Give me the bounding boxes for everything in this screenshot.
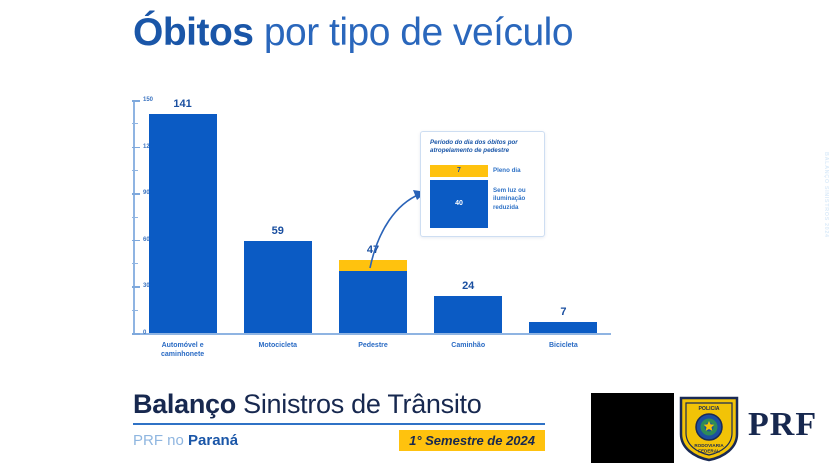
- black-placeholder-box: [591, 393, 674, 463]
- footer-subrow: PRF no Paraná 1° Semestre de 2024: [133, 430, 545, 456]
- page-title: Óbitos por tipo de veículo: [133, 10, 573, 56]
- callout-row-night: 40 Sem luz ou iluminação reduzida: [430, 180, 536, 228]
- x-category-label: Bicicleta: [529, 341, 597, 350]
- footer: Balanço Sinistros de Trânsito PRF no Par…: [133, 388, 545, 456]
- prf-acronym: PRF: [748, 406, 817, 444]
- callout-value-night: 40: [430, 180, 488, 228]
- footer-subtitle: PRF no Paraná: [133, 432, 238, 449]
- callout-box: Período do dia dos óbitos por atropelame…: [420, 131, 545, 237]
- bar-value-label: 24: [434, 280, 502, 292]
- x-category-label: Caminhão: [434, 341, 502, 350]
- prf-shield-icon: POLICIA RODOVIARIA FEDERAL: [676, 394, 742, 462]
- bar-5[interactable]: 7Bicicleta: [529, 322, 597, 333]
- bar-segment: [149, 114, 217, 333]
- footer-subtitle-prefix: PRF no: [133, 432, 188, 449]
- x-category-label: Motocicleta: [244, 341, 312, 350]
- callout-value-day: 7: [430, 165, 488, 177]
- bar-1[interactable]: 141Automóvel e caminhonete: [149, 114, 217, 333]
- bar-4[interactable]: 24Caminhão: [434, 296, 502, 333]
- slide-canvas: Óbitos por tipo de veículo 1501209060300…: [0, 0, 835, 468]
- page-title-rest: por tipo de veículo: [254, 11, 574, 54]
- callout-title: Período do dia dos óbitos por atropelame…: [430, 139, 536, 155]
- footer-divider: [133, 423, 545, 425]
- bar-value-label: 59: [244, 225, 312, 237]
- page-title-emphasis: Óbitos: [133, 11, 254, 54]
- bar-2[interactable]: 59Motocicleta: [244, 241, 312, 333]
- bar-segment: [434, 296, 502, 333]
- bar-value-label: 7: [529, 306, 597, 318]
- svg-text:FEDERAL: FEDERAL: [698, 449, 720, 454]
- footer-title-rest: Sinistros de Trânsito: [236, 389, 482, 419]
- watermark-text: BALANÇO SINISTROS 2024: [823, 152, 829, 238]
- bar-segment: [339, 271, 407, 333]
- footer-title: Balanço Sinistros de Trânsito: [133, 388, 545, 420]
- bar-segment: [244, 241, 312, 333]
- x-axis-line: [133, 333, 611, 335]
- svg-text:RODOVIARIA: RODOVIARIA: [694, 443, 724, 448]
- y-tick: [132, 333, 140, 335]
- svg-text:POLICIA: POLICIA: [698, 406, 719, 412]
- x-category-label: Automóvel e caminhonete: [149, 341, 217, 359]
- bar-segment: [529, 322, 597, 333]
- callout-label-day: Pleno dia: [493, 165, 521, 177]
- prf-logo: POLICIA RODOVIARIA FEDERAL PRF: [676, 392, 826, 464]
- footer-title-emphasis: Balanço: [133, 389, 236, 419]
- callout-row-day: 7 Pleno dia: [430, 165, 536, 177]
- callout-label-night: Sem luz ou iluminação reduzida: [493, 187, 541, 212]
- bar-value-label: 141: [149, 98, 217, 110]
- footer-subtitle-state: Paraná: [188, 432, 238, 449]
- x-category-label: Pedestre: [339, 341, 407, 350]
- period-badge: 1° Semestre de 2024: [399, 430, 545, 451]
